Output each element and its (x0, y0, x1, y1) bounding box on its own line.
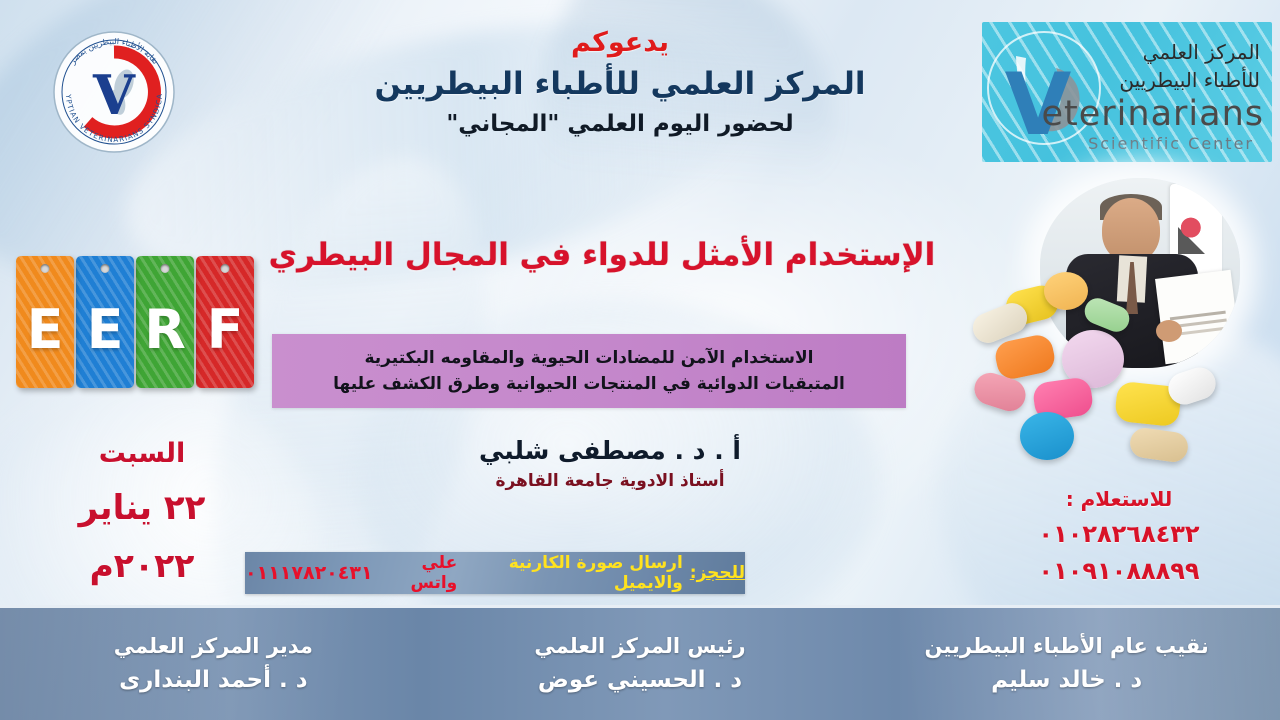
footer-official: مدير المركز العلمي د . أحمد البندارى (0, 633, 427, 695)
logo-english-line2: Scientific Center (1088, 134, 1254, 153)
free-tag: E (76, 256, 134, 388)
logo-arabic-line1: المركز العلمي (1143, 40, 1260, 64)
pill (1128, 426, 1190, 464)
tag-letter: E (27, 298, 64, 361)
official-name: د . خالد سليم (853, 666, 1280, 695)
inquiry-phone-1[interactable]: ٠١٠٢٨٢٦٨٤٣٢ (994, 519, 1244, 549)
pill (993, 332, 1058, 381)
footer-official: رئيس المركز العلمي د . الحسيني عوض (427, 633, 854, 695)
free-tag: R (136, 256, 194, 388)
poster-header: يدعوكم المركز العلمي للأطباء البيطريين ل… (300, 28, 940, 138)
booking-channel: علي واتس (380, 553, 458, 593)
logo-english-line1: eterinarians (1041, 94, 1264, 134)
official-role: مدير المركز العلمي (0, 633, 427, 659)
topic-item: الاستخدام الآمن للمضادات الحيوية والمقاو… (364, 348, 813, 368)
tag-hole-icon (41, 264, 50, 273)
event-month-day: ٢٢ يناير (52, 491, 232, 525)
inquiry-phone-2[interactable]: ٠١٠٩١٠٨٨٨٩٩ (994, 556, 1244, 586)
footer-official: نقيب عام الأطباء البيطريين د . خالد سليم (853, 633, 1280, 695)
pill (1020, 412, 1074, 460)
inquiry-label: للاستعلام : (994, 487, 1244, 512)
tag-hole-icon (221, 264, 230, 273)
tag-letter: E (87, 298, 124, 361)
speaker-block: أ . د . مصطفى شلبي أستاذ الادوية جامعة ا… (390, 437, 830, 491)
invitation-word: يدعوكم (300, 28, 940, 58)
poster-footer: نقيب عام الأطباء البيطريين د . خالد سليم… (0, 605, 1280, 720)
tag-hole-icon (101, 264, 110, 273)
free-tags-graphic: F R E E (14, 256, 254, 404)
event-day-name: السبت (52, 440, 232, 467)
scientific-center-logo: V المركز العلمي للأطباء البيطريين eterin… (982, 22, 1272, 162)
free-tag: E (16, 256, 74, 388)
event-subtitle: لحضور اليوم العلمي "المجاني" (300, 112, 940, 138)
booking-whatsapp-number[interactable]: ٠١١١٧٨٢٠٤٣١ (245, 562, 373, 584)
official-name: د . الحسيني عوض (427, 666, 854, 695)
pills-graphic (978, 272, 1228, 472)
tag-letter: R (144, 298, 186, 361)
poster-canvas: نقابة الأطباء البيطريين بمصر EGYPTIAN VE… (0, 0, 1280, 720)
speaker-title: أستاذ الادوية جامعة القاهرة (390, 471, 830, 491)
booking-bar: للحجز: ارسال صورة الكارنية والايميل علي … (245, 552, 745, 594)
svg-text:V: V (92, 63, 136, 127)
official-role: رئيس المركز العلمي (427, 633, 854, 659)
free-tag: F (196, 256, 254, 388)
tag-hole-icon (161, 264, 170, 273)
pill (1044, 272, 1088, 310)
event-year: ٢٠٢٢م (52, 549, 232, 582)
page-title: الإستخدام الأمثل للدواء في المجال البيطر… (262, 237, 942, 275)
booking-label: للحجز: (690, 563, 745, 583)
official-role: نقيب عام الأطباء البيطريين (853, 633, 1280, 659)
organization-name: المركز العلمي للأطباء البيطريين (300, 67, 940, 102)
topic-item: المتبقيات الدوائية في المنتجات الحيوانية… (333, 374, 845, 394)
logo-arabic-line2: للأطباء البيطريين (1119, 68, 1260, 92)
syndicate-logo: نقابة الأطباء البيطريين بمصر EGYPTIAN VE… (48, 26, 180, 154)
inquiry-block: للاستعلام : ٠١٠٢٨٢٦٨٤٣٢ ٠١٠٩١٠٨٨٨٩٩ (994, 487, 1244, 586)
booking-instruction: ارسال صورة الكارنية والايميل (464, 553, 683, 593)
official-name: د . أحمد البندارى (0, 666, 427, 695)
event-date: السبت ٢٢ يناير ٢٠٢٢م (52, 440, 232, 582)
speaker-name: أ . د . مصطفى شلبي (390, 437, 830, 466)
topics-band: الاستخدام الآمن للمضادات الحيوية والمقاو… (272, 334, 906, 408)
photo-head (1102, 198, 1160, 262)
tag-letter: F (207, 298, 244, 361)
